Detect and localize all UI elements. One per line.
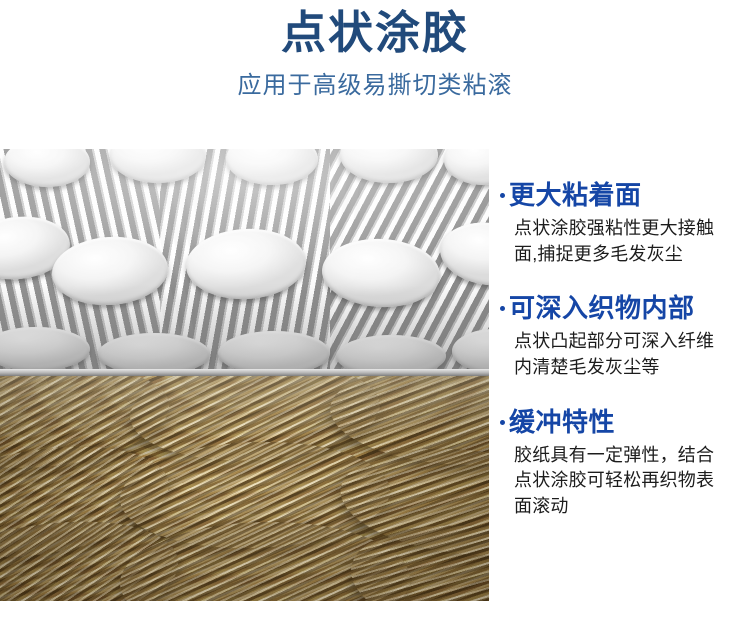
feature-item-3: 缓冲特性 胶纸具有一定弹性，结合点状涂胶可轻松再织物表面滚动 — [500, 407, 750, 520]
feature-heading-2-label: 可深入织物内部 — [509, 293, 695, 324]
page-subtitle: 应用于高级易撕切类粘滚 — [0, 71, 750, 101]
feature-body-3: 胶纸具有一定弹性，结合点状涂胶可轻松再织物表面滚动 — [500, 443, 732, 520]
bullet-dot-icon — [500, 193, 505, 198]
feature-body-2: 点状凸起部分可深入纤维内清楚毛发灰尘等 — [500, 329, 732, 380]
adhesive-dot-sheet-layer — [0, 149, 489, 376]
page-title: 点状涂胶 — [0, 6, 750, 61]
bullet-dot-icon — [500, 420, 505, 425]
feature-heading-3-label: 缓冲特性 — [509, 407, 615, 438]
header: 点状涂胶 应用于高级易撕切类粘滚 — [0, 0, 750, 148]
product-infographic-page: 点状涂胶 应用于高级易撕切类粘滚 — [0, 0, 750, 633]
feature-item-2: 可深入织物内部 点状凸起部分可深入纤维内清楚毛发灰尘等 — [500, 293, 750, 380]
feature-heading-3: 缓冲特性 — [500, 407, 750, 438]
feature-heading-1: 更大粘着面 — [500, 180, 750, 211]
bullet-dot-icon — [500, 306, 505, 311]
feature-heading-2: 可深入织物内部 — [500, 293, 750, 324]
feature-body-1: 点状涂胶强粘性更大接触面,捕捉更多毛发灰尘 — [500, 216, 732, 267]
woven-fabric-layer — [0, 376, 489, 601]
feature-item-1: 更大粘着面 点状涂胶强粘性更大接触面,捕捉更多毛发灰尘 — [500, 180, 750, 267]
product-image — [0, 149, 489, 601]
sheet-bottom-edge — [0, 369, 489, 376]
feature-heading-1-label: 更大粘着面 — [509, 180, 642, 211]
feature-list: 更大粘着面 点状涂胶强粘性更大接触面,捕捉更多毛发灰尘 可深入织物内部 点状凸起… — [500, 180, 750, 519]
